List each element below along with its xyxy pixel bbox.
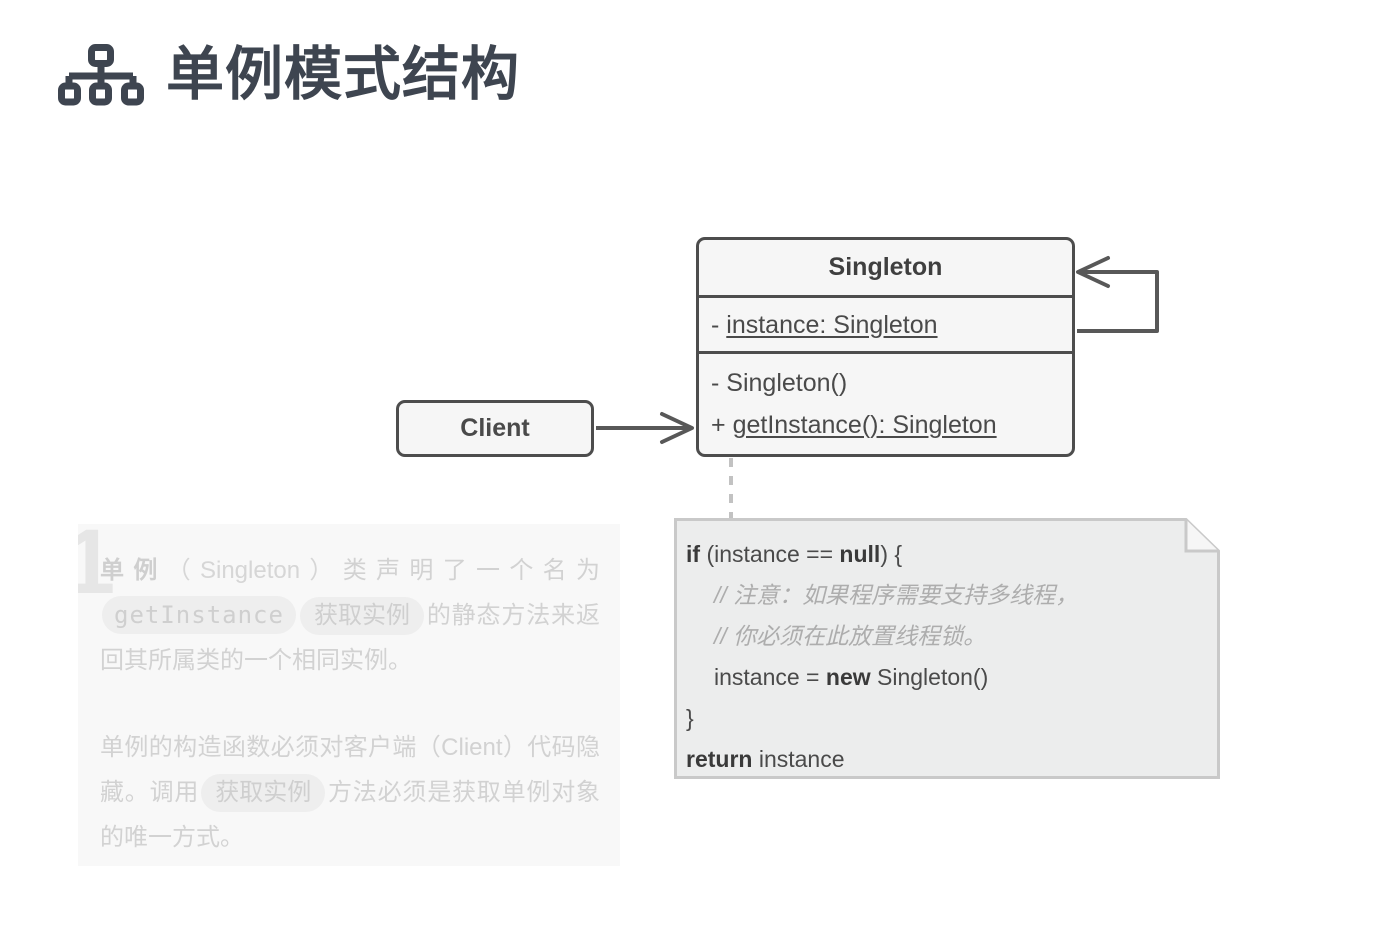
operation-getinstance-text: getInstance(): Singleton — [733, 411, 997, 439]
code-kw-new: new — [826, 664, 871, 690]
code-line-5: } — [686, 698, 1206, 739]
code-line-1: if (instance == null) { — [686, 534, 1206, 575]
singleton-self-arrow — [1077, 258, 1157, 331]
code-text-cond-open: (instance == — [700, 541, 839, 567]
code-line-2: // 注意：如果程序需要支持多线程， — [686, 575, 1206, 616]
code-text-return-val: instance — [752, 746, 844, 772]
code-note: if (instance == null) { // 注意：如果程序需要支持多线… — [674, 518, 1220, 779]
code-text-assign: instance = — [714, 664, 826, 690]
code-text-cond-close: ) { — [880, 541, 902, 567]
client-to-singleton-arrow — [596, 414, 692, 442]
attribute-instance-text: instance: Singleton — [726, 311, 937, 339]
attribute-instance: - instance: Singleton — [711, 304, 938, 346]
operation-constructor: - Singleton() — [711, 362, 847, 404]
operation-getinstance-visibility: + — [711, 411, 726, 439]
code-line-4: instance = new Singleton() — [686, 657, 1206, 698]
singleton-operations-compartment: - Singleton() + getInstance(): Singleton — [699, 354, 1072, 454]
code-text-ctor: Singleton() — [871, 664, 989, 690]
code-kw-if: if — [686, 541, 700, 567]
code-kw-return: return — [686, 746, 752, 772]
singleton-attributes-compartment: - instance: Singleton — [699, 298, 1072, 354]
diagram-connectors — [0, 0, 1393, 951]
singleton-class-title: Singleton — [699, 240, 1072, 298]
code-comment-1: // 注意：如果程序需要支持多线程， — [714, 582, 1078, 608]
code-note-body: if (instance == null) { // 注意：如果程序需要支持多线… — [686, 534, 1206, 780]
singleton-class-box[interactable]: Singleton - instance: Singleton - Single… — [696, 237, 1075, 457]
code-line-6: return instance — [686, 739, 1206, 780]
code-text-brace-close: } — [686, 705, 694, 731]
attribute-instance-visibility: - — [711, 311, 719, 339]
operation-constructor-visibility: - — [711, 369, 719, 397]
operation-constructor-text: Singleton() — [726, 369, 847, 397]
code-kw-null: null — [839, 541, 880, 567]
uml-diagram: Client Singleton - instance: Singleton -… — [0, 0, 1393, 951]
client-class-label: Client — [460, 414, 529, 443]
client-class-box[interactable]: Client — [396, 400, 594, 457]
operation-getinstance: + getInstance(): Singleton — [711, 404, 997, 446]
code-line-3: // 你必须在此放置线程锁。 — [686, 616, 1206, 657]
code-comment-2: // 你必须在此放置线程锁。 — [714, 623, 986, 649]
